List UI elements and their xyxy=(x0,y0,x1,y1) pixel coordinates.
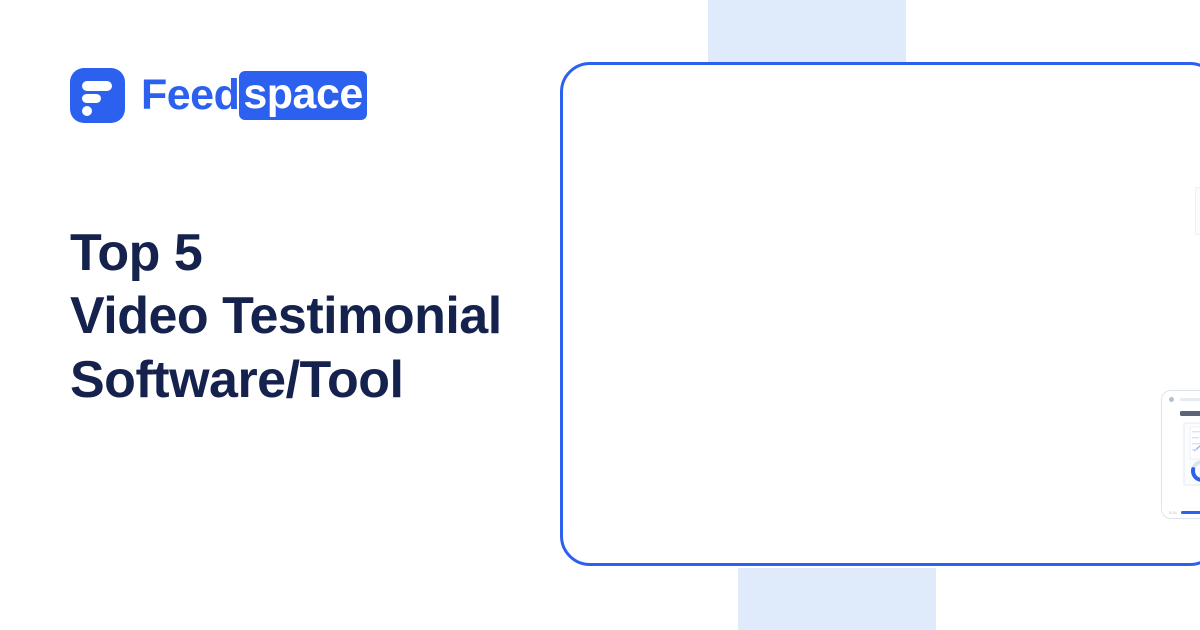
scene-presenter-with-chart xyxy=(1162,407,1200,519)
video-chrome-bar xyxy=(1162,391,1200,407)
brand-wordmark: Feed space xyxy=(141,71,367,120)
page-title: Top 5 Video Testimonial Software/Tool xyxy=(70,222,502,412)
brand-name-space: space xyxy=(239,71,366,120)
feedspace-f-logo-icon xyxy=(70,68,125,123)
logo-dot xyxy=(82,106,92,116)
seek-track[interactable] xyxy=(1181,512,1200,514)
video-card-presentation[interactable]: 0:14 xyxy=(1161,390,1200,519)
video-seek-bar[interactable]: 0:14 xyxy=(1162,511,1200,514)
headline-line-1: Top 5 xyxy=(70,222,502,285)
logo-bar-top xyxy=(82,81,112,91)
brand-name-feed: Feed xyxy=(141,74,239,117)
brand-lockup: Feed space xyxy=(70,68,367,123)
testimonial-card-top-left: ★ ★ ★ ★ ★ xyxy=(1195,187,1200,235)
seek-progress xyxy=(1181,511,1200,514)
headline-line-2: Video Testimonial xyxy=(70,285,502,348)
headline-line-3: Software/Tool xyxy=(70,349,502,412)
time-label: 0:14 xyxy=(1169,510,1177,515)
address-bar xyxy=(1180,398,1200,401)
poster-canvas: Feed space Top 5 Video Testimonial Softw… xyxy=(0,0,1200,630)
background-band-top xyxy=(708,0,906,62)
background-band-bottom xyxy=(738,568,936,630)
illustration-panel: ★ ★ ★ ★ ★ ★ ★ ★ ★ xyxy=(560,62,1200,566)
logo-bar-middle xyxy=(82,94,101,103)
window-dot xyxy=(1169,397,1174,402)
